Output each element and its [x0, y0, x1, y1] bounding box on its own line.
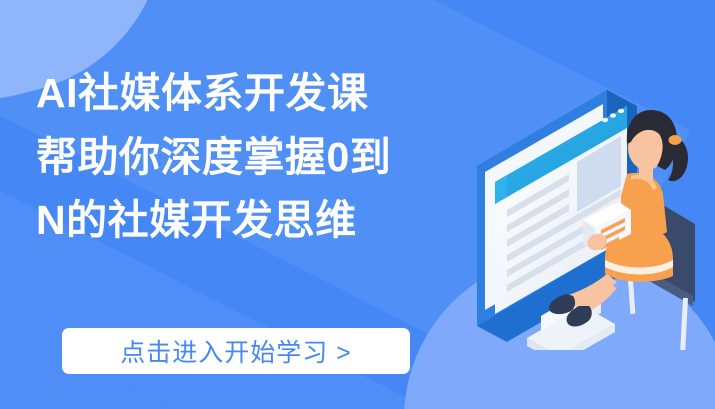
headline-line-3: N的社媒开发思维: [36, 189, 391, 253]
headline-line-2: 帮助你深度掌握0到: [36, 126, 391, 190]
start-learning-button[interactable]: 点击进入开始学习 >: [62, 328, 410, 374]
headline-line-1: AI社媒体系开发课: [36, 62, 391, 126]
promo-banner: AI社媒体系开发课 帮助你深度掌握0到 N的社媒开发思维 点击进入开始学习 >: [0, 0, 715, 409]
headline: AI社媒体系开发课 帮助你深度掌握0到 N的社媒开发思维: [36, 62, 391, 253]
start-learning-button-label: 点击进入开始学习 >: [120, 333, 352, 369]
desktop-computer-illustration: [455, 70, 715, 350]
